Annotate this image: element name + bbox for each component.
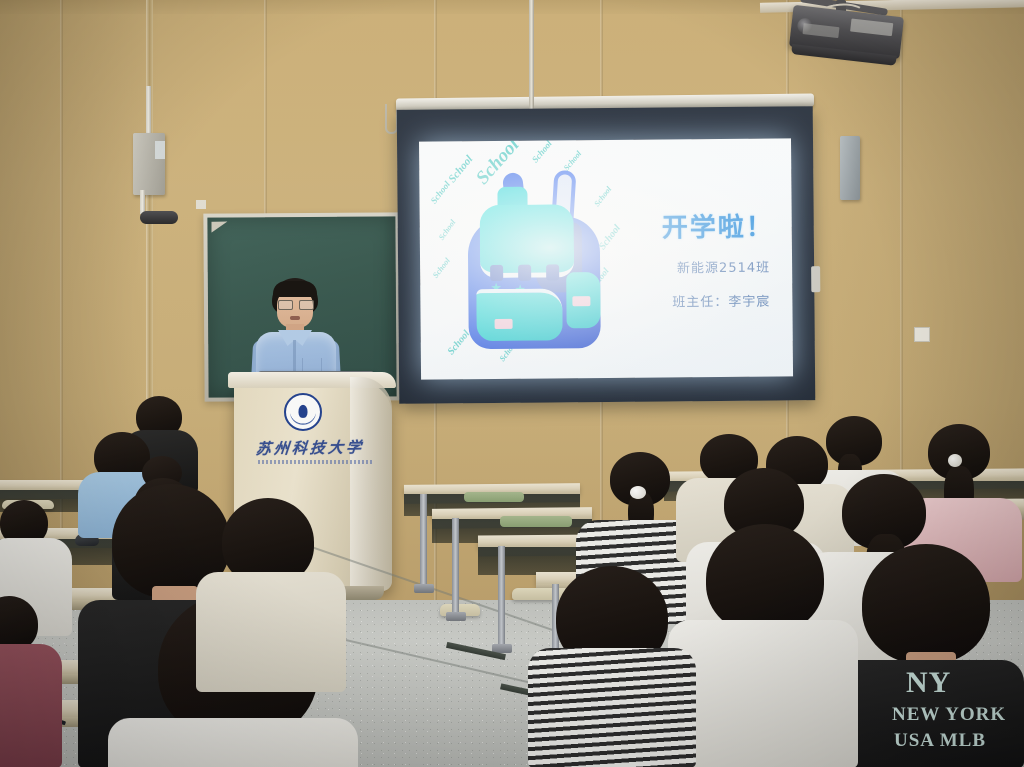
university-name: 苏州科技大学 (255, 436, 373, 460)
school-word: School (428, 179, 451, 205)
slide-teacher-line: 班主任：李宇宸 (672, 291, 770, 311)
backpack-buckle (490, 265, 503, 281)
podium-side-face (350, 377, 392, 591)
university-emblem-icon (284, 393, 322, 431)
backpack-buckle (546, 264, 559, 280)
desk-foot (414, 584, 434, 593)
school-word: School (437, 218, 457, 242)
desk-leg (452, 518, 459, 614)
seat-cushion (500, 516, 572, 527)
backpack-front-pocket (476, 288, 562, 341)
student-head (862, 544, 990, 664)
backpack-tag (572, 296, 590, 306)
apparel-line1: NEW YORK (892, 704, 1006, 726)
wall-control-box-right[interactable] (840, 136, 860, 200)
university-name-english (258, 460, 372, 464)
glasses-icon (278, 300, 312, 308)
desk-leg (420, 494, 427, 586)
seat-cushion (464, 492, 524, 502)
apparel-monogram: NY (906, 666, 951, 700)
backpack-tag (495, 319, 513, 329)
wall-sensor (140, 211, 178, 224)
slide-title: 开学啦！ (662, 207, 774, 245)
projector-vent (802, 23, 839, 38)
projection-screen[interactable]: School School School School School Schoo… (397, 106, 816, 404)
presenter-fringe (273, 281, 317, 297)
school-word: School (431, 256, 452, 279)
hair-clip (948, 454, 962, 467)
slide-canvas: School School School School School Schoo… (419, 138, 793, 379)
hair-scrunchie (630, 486, 646, 499)
wall-conduit (146, 86, 151, 138)
school-word: School (530, 139, 554, 165)
wall-control-box[interactable] (133, 133, 165, 195)
wall-plate (196, 200, 206, 209)
student-torso (196, 572, 346, 692)
projector-label (850, 18, 893, 36)
student-torso (528, 648, 696, 767)
classroom-photo: School School School School School Schoo… (0, 0, 1024, 767)
screen-side-tab (811, 266, 820, 292)
student-torso (108, 718, 358, 767)
backpack-illustration: ★ ★ ★ (459, 168, 621, 354)
backpack-buckle (518, 265, 531, 281)
presenter-mouth (290, 316, 300, 320)
desk-leg (498, 546, 505, 646)
student-torso (668, 620, 858, 767)
light-switch[interactable] (914, 327, 930, 342)
slide-class-name: 新能源2514班 (677, 257, 770, 277)
presenter (250, 278, 342, 386)
desk-foot (446, 612, 466, 621)
student-torso (0, 644, 62, 767)
student-head (706, 524, 824, 634)
apparel-line2: USA MLB (894, 730, 986, 752)
